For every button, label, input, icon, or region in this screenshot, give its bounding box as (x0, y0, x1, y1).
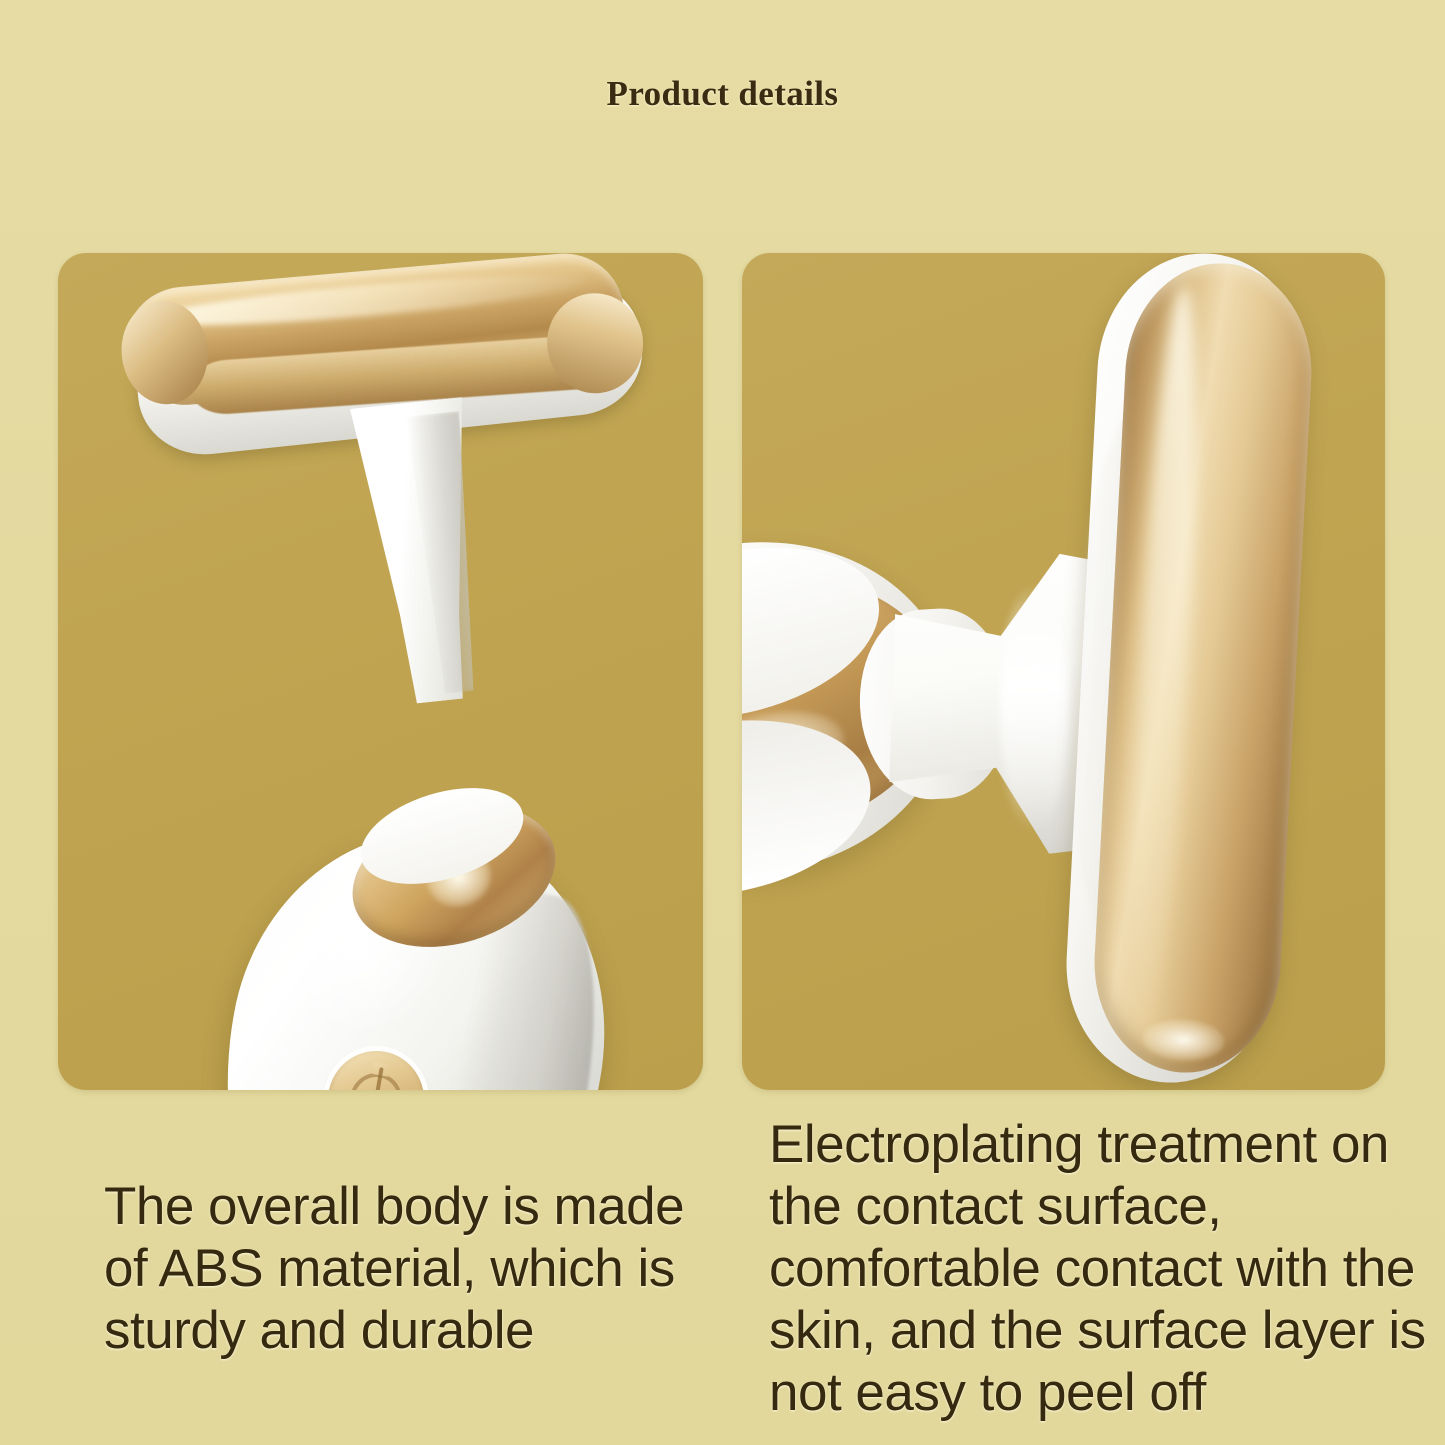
left-caption: The overall body is made of ABS material… (104, 1176, 724, 1362)
right-caption: Electroplating treatment on the contact … (769, 1114, 1429, 1424)
product-details-page: Product details (0, 0, 1445, 1445)
page-title: Product details (0, 74, 1445, 114)
neck-highlight (1000, 583, 1070, 833)
right-product-photo (742, 253, 1385, 1090)
left-product-photo (58, 253, 703, 1090)
